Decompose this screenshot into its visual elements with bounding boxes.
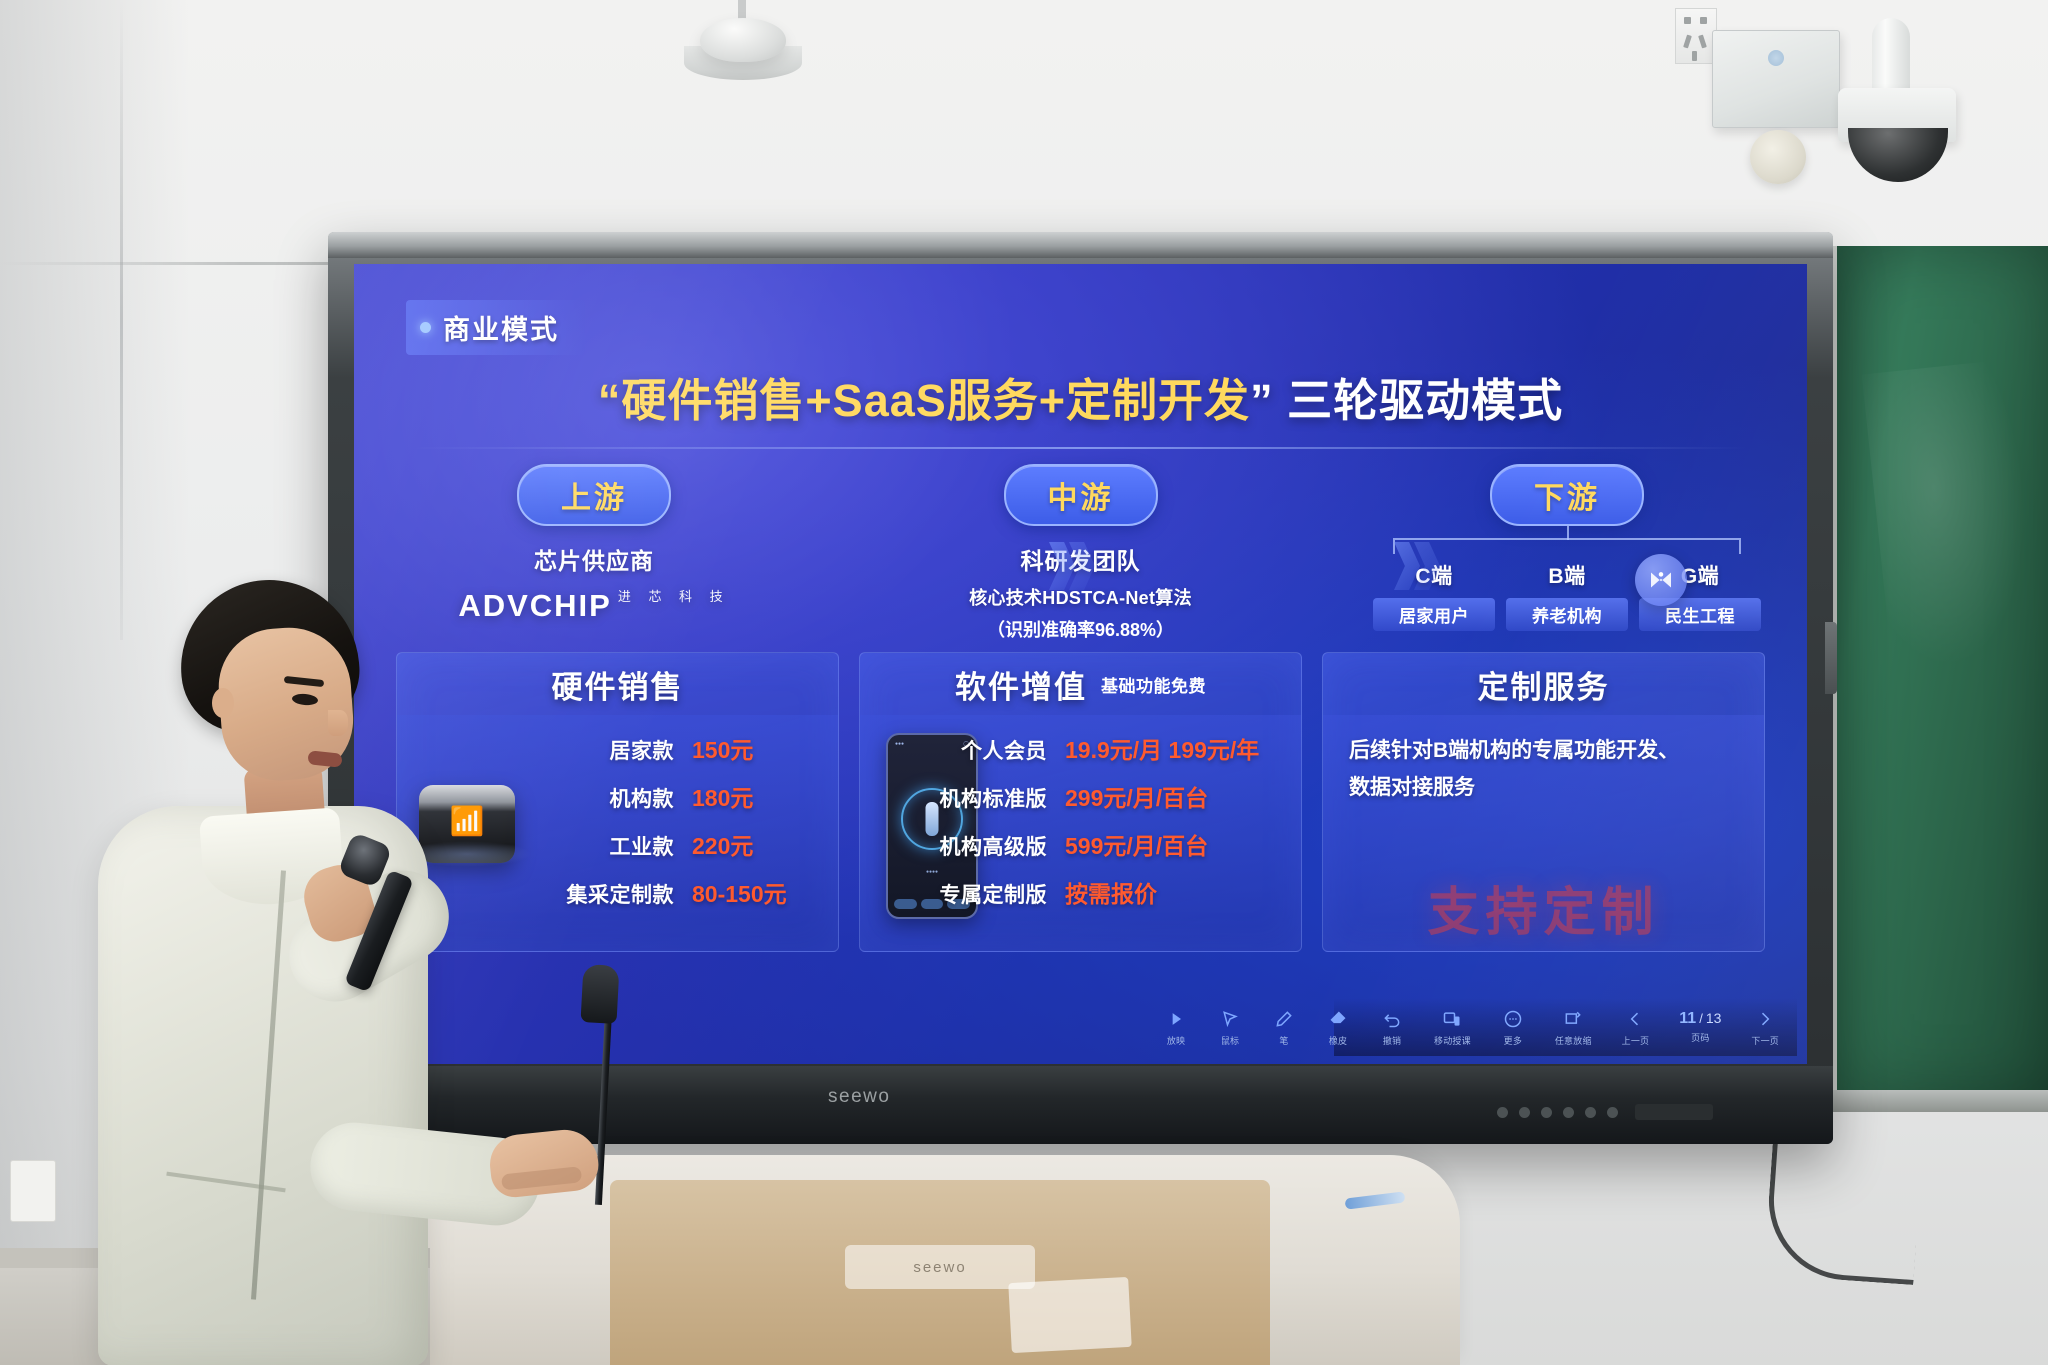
toolbar-item-screen-zoom[interactable]: 任意放缩 [1555, 1007, 1592, 1047]
toolbar-label-play: 放映 [1167, 1034, 1185, 1047]
price-list-software: 个人会员 19.9元/月 199元/年 机构标准版 299元/月/百台 机构高级… [940, 731, 1276, 923]
toolbar-item-prev-page[interactable]: 上一页 [1622, 1007, 1650, 1047]
toolbar-label-next-page: 下一页 [1751, 1034, 1779, 1047]
price-label: 个人会员 [961, 735, 1047, 765]
card-header-custom: 定制服务 [1323, 653, 1764, 715]
presenter-left-hand [487, 1127, 601, 1200]
card-note-software: 基础功能免费 [1101, 672, 1206, 697]
price-label: 居家款 [610, 735, 675, 765]
toolbar-item-eraser[interactable]: 橡皮 [1326, 1007, 1350, 1047]
card-software-value-added: 软件增值 基础功能免费 ●●●◯ ●●●● [859, 652, 1302, 952]
custom-service-line-2: 数据对接服务 [1349, 770, 1742, 807]
price-value: 按需报价 [1065, 875, 1275, 909]
price-row: 机构高级版 599元/月/百台 [940, 827, 1276, 861]
price-list-hardware: 居家款 150元 机构款 180元 工业款 220元 [567, 731, 813, 923]
slide-title-highlight: 硬件销售+SaaS服务+定制开发 [621, 375, 1250, 426]
custom-service-description: 后续针对B端机构的专属功能开发、 数据对接服务 [1323, 727, 1764, 807]
toolbar-label-more: 更多 [1504, 1034, 1522, 1047]
camera-junction-box [1712, 30, 1840, 128]
price-value: 80-150元 [692, 875, 812, 909]
toolbar-item-next-page[interactable]: 下一页 [1751, 1007, 1779, 1047]
section-badge: 商业模式 [406, 300, 585, 355]
seewo-toolbar[interactable]: 放映 鼠标 笔 [1334, 998, 1797, 1056]
tv-brand-label: seewo [828, 1086, 890, 1108]
price-value: 599元/月/百台 [1065, 827, 1275, 861]
tv-ir-receiver [1635, 1104, 1713, 1120]
card-title-custom: 定制服务 [1478, 662, 1610, 707]
chevron-right-icon [1753, 1007, 1777, 1031]
box-logo-icon [1768, 50, 1784, 66]
slide-title-quote-open: “ [598, 375, 622, 426]
desk-paper [1008, 1277, 1131, 1353]
price-label: 机构款 [610, 783, 675, 813]
toolbar-item-play[interactable]: 放映 [1164, 1007, 1188, 1047]
section-badge-label: 商业模式 [443, 308, 559, 347]
custom-service-stamp: 支持定制 [1323, 870, 1764, 945]
wall-speaker [1750, 130, 1806, 184]
price-value: 220元 [692, 827, 812, 861]
presenter-ear [212, 688, 234, 718]
wall-socket [1675, 8, 1717, 64]
screen-zoom-icon [1561, 1007, 1585, 1031]
value-chain-row: 上游 芯片供应商 ADVCHIP 进 芯 科 技 中游 科研发团队 核心技术HD… [394, 464, 1767, 634]
price-label: 机构标准版 [940, 783, 1048, 813]
toolbar-label-page: 页码 [1691, 1031, 1709, 1044]
downstream-segment-b: B端 养老机构 [1506, 560, 1628, 631]
toolbar-label-undo: 撤销 [1383, 1034, 1401, 1047]
price-value: 180元 [692, 779, 812, 813]
undo-icon [1380, 1007, 1404, 1031]
price-value: 150元 [692, 731, 812, 765]
business-model-cards: 硬件销售 📶 居家款 150元 [396, 652, 1765, 952]
card-custom-service: 定制服务 后续针对B端机构的专属功能开发、 数据对接服务 支持定制 [1322, 652, 1765, 952]
toolbar-item-page-indicator[interactable]: 11 / 13 页码 [1679, 1010, 1721, 1044]
page-indicator: 11 / 13 [1679, 1010, 1721, 1028]
presenter [70, 570, 590, 1365]
chain-arrow-1-icon [1049, 536, 1103, 598]
segment-tag-c: 居家用户 [1373, 598, 1495, 631]
chain-accuracy-midstream: （识别准确率96.88%） [881, 616, 1281, 642]
chain-pill-downstream[interactable]: 下游 [1490, 464, 1644, 526]
price-row: 集采定制款 80-150元 [567, 875, 813, 909]
toolbar-item-undo[interactable]: 撤销 [1380, 1007, 1404, 1047]
seewo-bow-icon [1646, 565, 1676, 595]
card-body-custom: 后续针对B端机构的专属功能开发、 数据对接服务 支持定制 [1323, 715, 1764, 951]
price-row: 工业款 220元 [567, 827, 813, 861]
phone-caption: ●●●● [926, 869, 938, 875]
price-value: 299元/月/百台 [1065, 779, 1275, 813]
price-label: 工业款 [610, 831, 675, 861]
play-icon [1164, 1007, 1188, 1031]
presenter-nose [328, 710, 348, 736]
segment-tag-b: 养老机构 [1506, 598, 1628, 631]
custom-service-line-1: 后续针对B端机构的专属功能开发、 [1349, 733, 1742, 770]
toolbar-label-cursor: 鼠标 [1221, 1034, 1239, 1047]
price-row: 个人会员 19.9元/月 199元/年 [940, 731, 1276, 765]
pen-icon [1272, 1007, 1296, 1031]
page-separator: / [1699, 1011, 1703, 1026]
toolbar-item-pen[interactable]: 笔 [1272, 1007, 1296, 1047]
toolbar-label-pen: 笔 [1279, 1034, 1288, 1047]
segment-code-b: B端 [1506, 560, 1628, 590]
toolbar-item-mobile-teach[interactable]: 移动授课 [1434, 1007, 1471, 1047]
person-silhouette-icon [926, 802, 939, 836]
mobile-teach-icon [1440, 1007, 1464, 1031]
card-header-software: 软件增值 基础功能免费 [860, 653, 1301, 715]
low-wall-outlet [10, 1160, 56, 1222]
classroom-scene: 商业模式 “硬件销售+SaaS服务+定制开发” 三轮驱动模式 上游 芯片供应商 … [0, 0, 2048, 1365]
chain-pill-midstream[interactable]: 中游 [1004, 464, 1158, 526]
chalk-smudge [1862, 359, 2043, 673]
tv-side-button-right[interactable] [1825, 622, 1837, 694]
chain-arrow-2-icon [1394, 536, 1448, 598]
price-value: 19.9元/月 199元/年 [1065, 731, 1275, 765]
page-current: 11 [1679, 1010, 1696, 1028]
price-label: 机构高级版 [940, 831, 1048, 861]
chain-pill-upstream[interactable]: 上游 [517, 464, 671, 526]
advchip-logo-chinese: 进 芯 科 技 [618, 586, 730, 605]
wall-edge [120, 0, 123, 640]
desk-brand-label: seewo [845, 1245, 1035, 1289]
price-row: 专属定制版 按需报价 [940, 875, 1276, 909]
tv-top-bezel [328, 232, 1833, 258]
price-row: 机构标准版 299元/月/百台 [940, 779, 1276, 813]
slide-title: “硬件销售+SaaS服务+定制开发” 三轮驱动模式 [354, 364, 1807, 429]
card-body-software: ●●●◯ ●●●● 个人会员 19.9元/月 199元/年 [860, 715, 1301, 951]
price-row: 机构款 180元 [567, 779, 813, 813]
toolbar-label-eraser: 橡皮 [1329, 1034, 1347, 1047]
card-title-software: 软件增值 [955, 662, 1087, 707]
title-divider [414, 447, 1747, 449]
price-label: 专属定制版 [940, 879, 1048, 909]
slide-title-suffix: ” 三轮驱动模式 [1250, 375, 1563, 426]
toolbar-label-mobile-teach: 移动授课 [1434, 1034, 1471, 1047]
page-total: 13 [1706, 1010, 1722, 1026]
cursor-icon [1218, 1007, 1242, 1031]
tv-ports[interactable] [1497, 1107, 1618, 1118]
toolbar-label-screen-zoom: 任意放缩 [1555, 1034, 1592, 1047]
toolbar-item-more[interactable]: 更多 [1501, 1007, 1525, 1047]
eraser-icon [1326, 1007, 1350, 1031]
chevron-left-icon [1623, 1007, 1647, 1031]
blackboard [1827, 246, 2048, 1098]
price-row: 居家款 150元 [567, 731, 813, 765]
badge-dot-icon [420, 322, 431, 333]
smoke-detector-icon [700, 18, 786, 62]
toolbar-item-cursor[interactable]: 鼠标 [1218, 1007, 1242, 1047]
more-icon [1501, 1007, 1525, 1031]
floating-app-button[interactable] [1635, 554, 1687, 606]
toolbar-label-prev-page: 上一页 [1622, 1034, 1650, 1047]
